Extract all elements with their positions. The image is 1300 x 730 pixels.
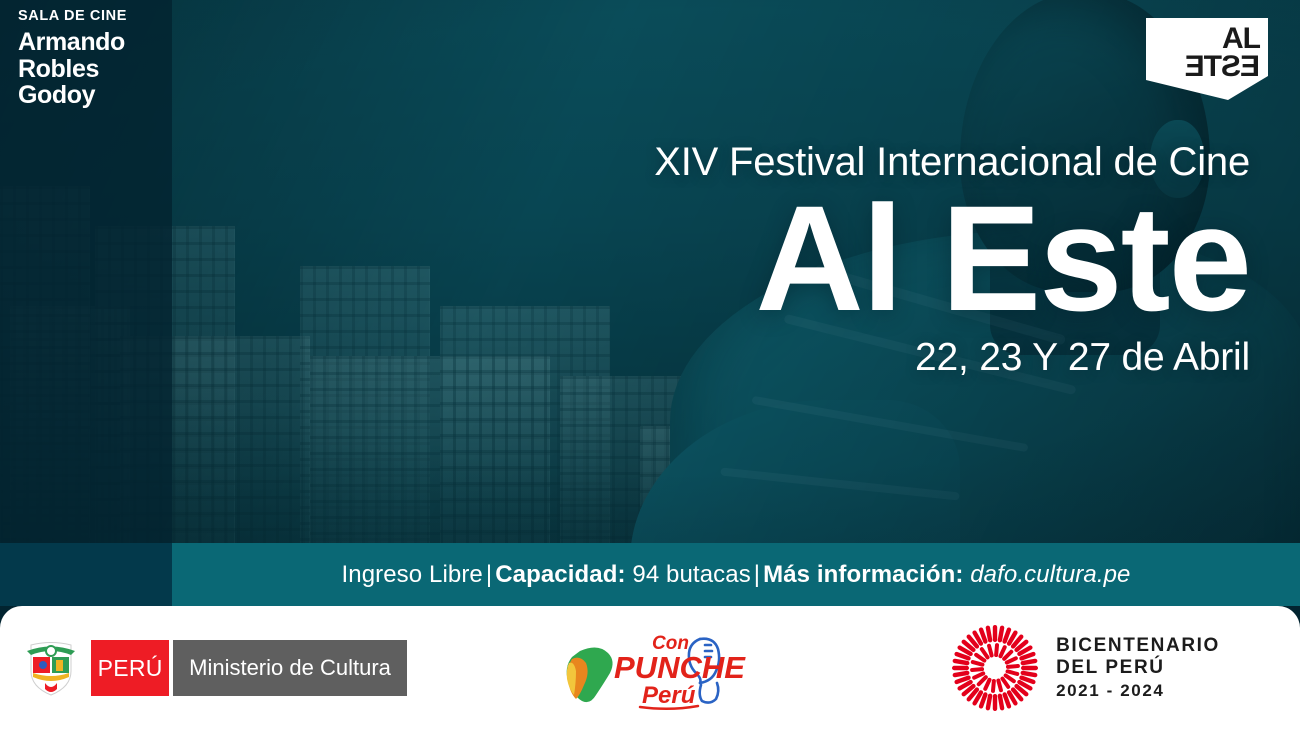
ministry-logo-slot: PERÚ Ministerio de Cultura [0, 606, 430, 730]
info-more-label: Más información: [763, 561, 963, 589]
festival-dates: 22, 23 Y 27 de Abril [410, 336, 1250, 380]
bicentenario-sunburst-icon [950, 623, 1040, 713]
info-more-value[interactable]: dafo.cultura.pe [970, 561, 1130, 589]
peru-coat-of-arms-icon [23, 639, 79, 697]
bicentenario-logo: BICENTENARIO DEL PERÚ 2021 - 2024 [950, 623, 1220, 713]
info-entry: Ingreso Libre [341, 561, 482, 589]
svg-text:Perú: Perú [642, 682, 696, 709]
al-este-logo-icon: AL ESTE [1142, 14, 1272, 104]
info-capacity-value: 94 butacas [632, 561, 750, 589]
venue-name-line-3: Godoy [18, 82, 168, 109]
svg-text:PUNCHE: PUNCHE [614, 650, 746, 685]
venue-name-line-1: Armando [18, 29, 168, 56]
bicentenario-line-1: BICENTENARIO [1056, 635, 1220, 657]
festival-title: Al Este [410, 186, 1250, 330]
info-capacity-label: Capacidad: [495, 561, 625, 589]
venue-name-line-2: Robles [18, 56, 168, 83]
info-separator-2: | [751, 561, 763, 589]
con-punche-peru-logo-slot: Con PUNCHE Perú [430, 606, 870, 730]
ministry-name: Ministerio de Cultura [173, 640, 407, 696]
headline-block: XIV Festival Internacional de Cine Al Es… [410, 140, 1250, 380]
peru-map-flexed-arm-icon: Con PUNCHE Perú [550, 625, 750, 711]
venue-logo: SALA DE CINE Armando Robles Godoy [18, 8, 168, 109]
bicentenario-logo-slot: BICENTENARIO DEL PERÚ 2021 - 2024 [870, 606, 1300, 730]
venue-kicker: SALA DE CINE [18, 8, 168, 25]
bicentenario-text: BICENTENARIO DEL PERÚ 2021 - 2024 [1056, 635, 1220, 702]
peru-wordmark: PERÚ [91, 640, 169, 696]
info-strip: Ingreso Libre | Capacidad: 94 butacas | … [0, 543, 1300, 606]
bicentenario-line-3: 2021 - 2024 [1056, 681, 1220, 701]
festival-poster: SALA DE CINE Armando Robles Godoy AL EST… [0, 0, 1300, 730]
info-strip-text: Ingreso Libre | Capacidad: 94 butacas | … [172, 543, 1300, 606]
al-este-logo: AL ESTE [1142, 14, 1272, 104]
info-separator-1: | [483, 561, 495, 589]
ministry-of-culture-logo: PERÚ Ministerio de Cultura [23, 640, 407, 696]
sponsor-footer: PERÚ Ministerio de Cultura [0, 606, 1300, 730]
left-dark-panel: SALA DE CINE Armando Robles Godoy [0, 0, 172, 606]
svg-text:ESTE: ESTE [1186, 50, 1260, 83]
info-strip-left-block [0, 543, 172, 606]
con-punche-peru-logo: Con PUNCHE Perú [550, 625, 750, 711]
bicentenario-line-2: DEL PERÚ [1056, 657, 1220, 679]
